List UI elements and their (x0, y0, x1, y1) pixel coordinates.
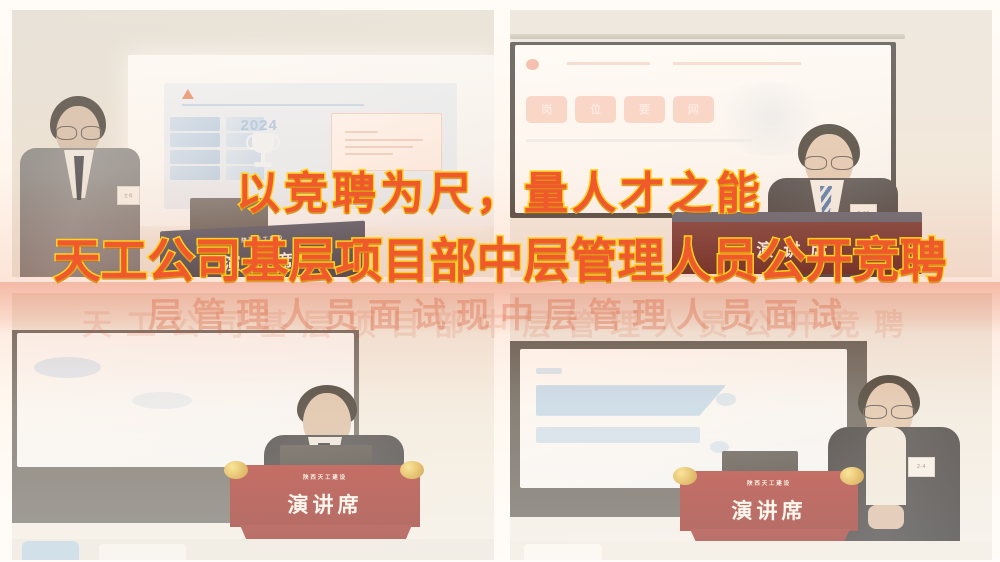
podium: 陕西天工建设 演讲席 (680, 471, 858, 531)
slide-graphic (132, 392, 193, 409)
photo-bottom-left: 陕西天工建设 演讲席 (12, 293, 494, 560)
photo-top-left: 2024 (12, 10, 494, 277)
chair (22, 541, 80, 560)
photo-bottom-right: 2-4 陕西天工建设 演讲席 (510, 293, 992, 560)
table (524, 544, 601, 560)
screen-roller (510, 34, 905, 39)
slide-graphic (34, 357, 101, 378)
podium-label: 演讲席 (160, 243, 365, 277)
slide-header-rule (567, 62, 650, 65)
glasses-icon (56, 126, 102, 138)
podium-label: 演讲席 (230, 489, 420, 519)
slide-graphic (536, 368, 562, 374)
competitive-recruitment-poster: 2024 (0, 0, 1000, 562)
slide-tile (170, 166, 220, 180)
slide-chip-label: 要 (624, 96, 665, 123)
glasses-icon (804, 156, 854, 168)
company-logo-icon (526, 59, 539, 70)
slide-chip-label: 位 (575, 96, 616, 123)
podium: 陕西天工建设 演讲席 (230, 465, 420, 527)
slide-panel: 2024 (164, 83, 457, 209)
slide-chip: 岗 (526, 96, 567, 123)
photo-top-right: 岗 位 要 网 3-13 (510, 10, 992, 277)
slide-year-label: 2024 (240, 117, 277, 134)
podium: 陕西天工建设 演讲席 (160, 221, 365, 277)
podium-org-label: 陕西天工建设 (680, 479, 858, 487)
slide-tile (170, 133, 220, 147)
slide-chip: 位 (575, 96, 616, 123)
slide-chip-label: 网 (673, 96, 714, 123)
laptop (722, 451, 798, 473)
podium-label: 演讲席 (672, 236, 922, 261)
slide-tile (170, 150, 220, 164)
slide-chip: 网 (673, 96, 714, 123)
name-badge: 工号 (117, 186, 140, 205)
slide-tile (170, 117, 220, 131)
slide-graphic (716, 393, 736, 405)
slide-graphic (536, 427, 700, 444)
table (99, 544, 186, 560)
floor (12, 539, 494, 560)
trophy-icon (246, 133, 280, 171)
inner-top (866, 427, 906, 505)
photo-grid: 2024 (0, 0, 1000, 562)
podium: 演讲席 (672, 212, 922, 274)
slide-chip-label: 岗 (526, 96, 567, 123)
slide-header-rule (673, 62, 801, 65)
glasses-icon (863, 405, 915, 417)
laptop (280, 445, 372, 467)
projection-screen: 2024 (128, 55, 494, 226)
podium-label: 演讲席 (680, 495, 858, 525)
slide-chip: 要 (624, 96, 665, 123)
name-badge: 2-4 (908, 457, 935, 477)
hands (868, 505, 904, 529)
slide-graphic (536, 385, 726, 416)
company-logo-icon (182, 89, 194, 99)
slide-rule (526, 139, 752, 142)
podium-org-label: 陕西天工建设 (230, 473, 420, 481)
slide-header-rule (182, 104, 364, 106)
certificate-thumbnail (331, 113, 441, 171)
